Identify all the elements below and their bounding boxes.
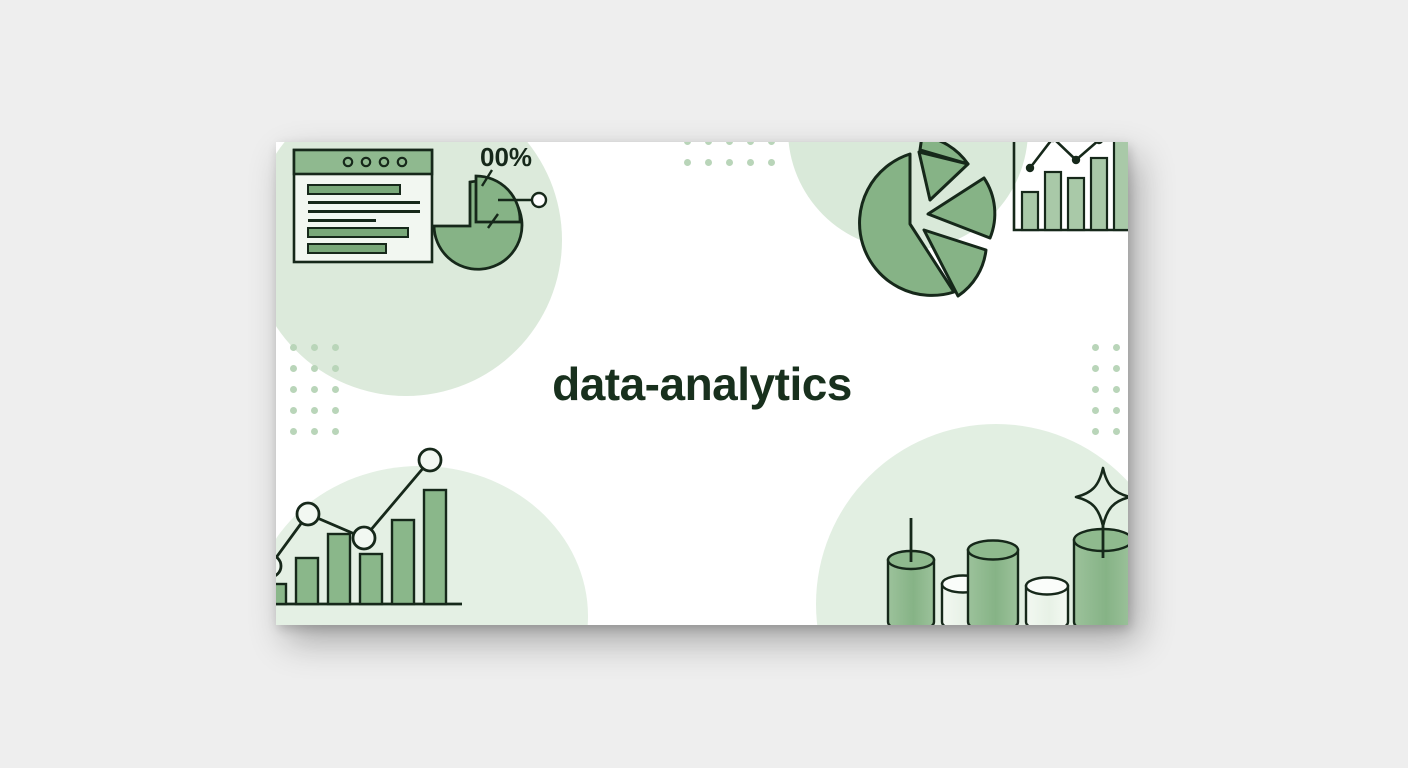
page-title: data-analytics — [552, 357, 852, 411]
grid-dot — [290, 428, 297, 435]
grid-dot — [1113, 344, 1120, 351]
grid-dot — [311, 428, 318, 435]
cylinder-bar — [1074, 540, 1128, 625]
grid-dot — [311, 365, 318, 372]
grid-dot — [332, 407, 339, 414]
grid-dot — [332, 386, 339, 393]
bar-line-combo-chart — [1008, 142, 1128, 244]
grid-dot — [332, 428, 339, 435]
grid-dot — [290, 407, 297, 414]
dot-grid-left — [290, 344, 339, 435]
grid-dot — [1092, 344, 1099, 351]
grid-dot — [1113, 386, 1120, 393]
cylinder-bar — [968, 550, 1018, 625]
grid-dot — [1092, 407, 1099, 414]
dot-grid-top — [684, 142, 775, 166]
cylinder-group — [888, 518, 1128, 625]
grid-dot — [1113, 407, 1120, 414]
grid-dot — [332, 344, 339, 351]
grid-dot — [311, 386, 318, 393]
chart-bars — [1022, 142, 1128, 230]
grid-dot — [768, 159, 775, 166]
exploded-pie-chart — [850, 142, 1010, 306]
grid-dot — [747, 159, 754, 166]
grid-dot — [1092, 365, 1099, 372]
grid-dot — [311, 407, 318, 414]
grid-dot — [290, 386, 297, 393]
grid-dot — [1092, 386, 1099, 393]
grid-dot — [332, 365, 339, 372]
dot-grid-right — [1092, 344, 1128, 435]
grid-dot — [705, 159, 712, 166]
card-surface: 00% — [276, 142, 1128, 625]
grid-dot — [1113, 365, 1120, 372]
pie-callout-label: 00% — [480, 142, 532, 172]
grid-dot — [747, 142, 754, 145]
grid-dot — [726, 159, 733, 166]
grid-dot — [726, 142, 733, 145]
grid-dot — [684, 142, 691, 145]
bar-line-growth-chart — [276, 438, 466, 622]
page-canvas: 00% — [0, 0, 1408, 768]
grid-dot — [705, 142, 712, 145]
grid-dot — [311, 344, 318, 351]
grid-dot — [1113, 428, 1120, 435]
grid-dot — [290, 365, 297, 372]
data-analytics-slide-card[interactable]: 00% — [276, 142, 1128, 625]
small-pie-chart — [434, 176, 522, 269]
browser-window-illustration: 00% — [284, 142, 552, 280]
grid-dot — [290, 344, 297, 351]
grid-dot — [768, 142, 775, 145]
grid-dot — [1092, 428, 1099, 435]
grid-dot — [684, 159, 691, 166]
cylinder-bar-chart — [876, 462, 1128, 625]
